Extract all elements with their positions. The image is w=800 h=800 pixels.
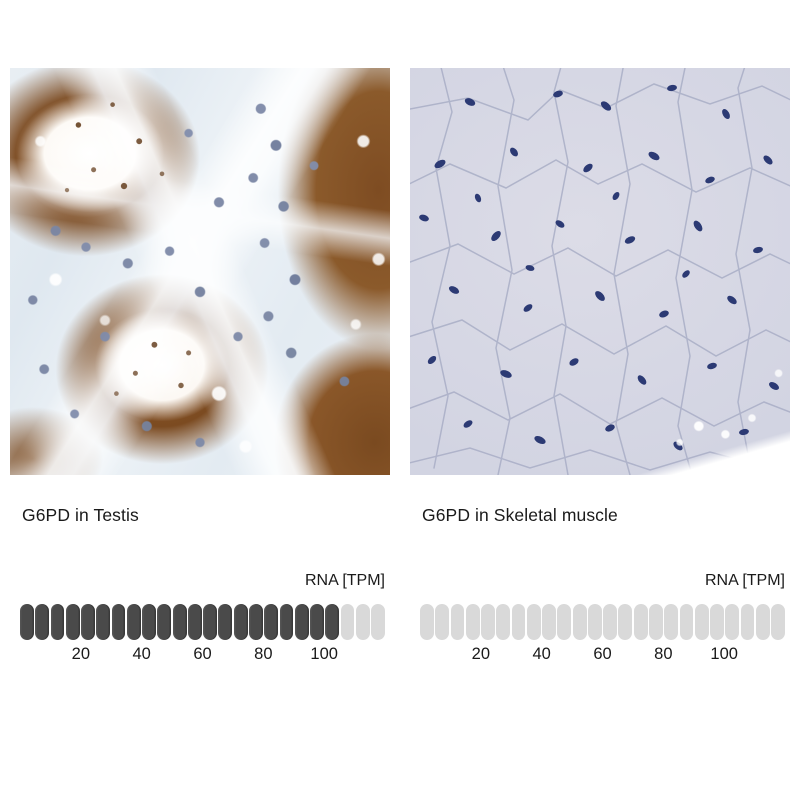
panel-testis: G6PD in Testis RNA [TPM] 20406080100: [0, 0, 400, 800]
rna-gauge-segment: [527, 604, 541, 640]
rna-gauge-skeletal-muscle[interactable]: [420, 604, 785, 640]
panel-skeletal-muscle: G6PD in Skeletal muscle RNA [TPM] 204060…: [400, 0, 800, 800]
caption-skeletal-muscle: G6PD in Skeletal muscle: [422, 505, 618, 526]
rna-gauge-segment: [588, 604, 602, 640]
rna-gauge-segment: [771, 604, 785, 640]
rna-gauge-segment: [649, 604, 663, 640]
rna-gauge-segment: [664, 604, 678, 640]
rna-gauge-tick-label: 20: [472, 645, 490, 664]
rna-gauge-segment: [618, 604, 632, 640]
rna-gauge-segment: [280, 604, 294, 640]
rna-gauge-segment: [249, 604, 263, 640]
hpa-tissue-comparison-figure: G6PD in Testis RNA [TPM] 20406080100: [0, 0, 800, 800]
rna-gauge-segment: [710, 604, 724, 640]
rna-gauge-tick-label: 60: [193, 645, 211, 664]
rna-gauge-segment: [234, 604, 248, 640]
rna-gauge-tick-label: 40: [132, 645, 150, 664]
rna-gauge-segment: [603, 604, 617, 640]
rna-gauge-segment: [203, 604, 217, 640]
rna-gauge-segment: [756, 604, 770, 640]
rna-gauge-ticks-skeletal-muscle: 20406080100: [420, 645, 785, 669]
rna-gauge-segment: [634, 604, 648, 640]
rna-gauge-tick-label: 20: [72, 645, 90, 664]
micrograph-nuclei-layer: [10, 68, 390, 475]
rna-gauge-tick-label: 100: [710, 645, 738, 664]
micrograph-testis[interactable]: [10, 68, 390, 475]
rna-gauge-segment: [81, 604, 95, 640]
rna-gauge-segment: [188, 604, 202, 640]
rna-gauge-segment: [557, 604, 571, 640]
rna-gauge-segment: [341, 604, 355, 640]
rna-gauge-segment: [573, 604, 587, 640]
micrograph-skeletal-muscle[interactable]: [410, 68, 790, 475]
rna-gauge-tick-label: 60: [593, 645, 611, 664]
micrograph-tissue-edge-layer: [410, 68, 790, 475]
rna-gauge-testis[interactable]: [20, 604, 385, 640]
rna-gauge-tick-label: 80: [254, 645, 272, 664]
rna-gauge-segment: [218, 604, 232, 640]
rna-gauge-segment: [142, 604, 156, 640]
rna-gauge-segment: [725, 604, 739, 640]
rna-gauge-segment: [20, 604, 34, 640]
rna-gauge-segment: [420, 604, 434, 640]
rna-gauge-segment: [35, 604, 49, 640]
caption-testis: G6PD in Testis: [22, 505, 139, 526]
rna-gauge-segment: [310, 604, 324, 640]
rna-gauge-segment: [496, 604, 510, 640]
rna-gauge-segment: [96, 604, 110, 640]
rna-gauge-segment: [695, 604, 709, 640]
rna-gauge-segment: [157, 604, 171, 640]
rna-tpm-label-testis: RNA [TPM]: [305, 572, 385, 590]
rna-gauge-segment: [325, 604, 339, 640]
rna-gauge-segment: [680, 604, 694, 640]
rna-gauge-segment: [112, 604, 126, 640]
rna-gauge-ticks-testis: 20406080100: [20, 645, 385, 669]
rna-tpm-label-skeletal-muscle: RNA [TPM]: [705, 572, 785, 590]
rna-gauge-segment: [66, 604, 80, 640]
rna-gauge-segment: [51, 604, 65, 640]
rna-gauge-segment: [741, 604, 755, 640]
rna-gauge-segment: [542, 604, 556, 640]
rna-gauge-segment: [451, 604, 465, 640]
rna-gauge-segment: [435, 604, 449, 640]
rna-gauge-segment: [173, 604, 187, 640]
rna-gauge-segment: [295, 604, 309, 640]
rna-gauge-segment: [512, 604, 526, 640]
rna-gauge-segment: [127, 604, 141, 640]
rna-gauge-segment: [264, 604, 278, 640]
rna-gauge-tick-label: 80: [654, 645, 672, 664]
rna-gauge-segment: [356, 604, 370, 640]
rna-gauge-segment: [466, 604, 480, 640]
rna-gauge-segment: [371, 604, 385, 640]
rna-gauge-segment: [481, 604, 495, 640]
rna-gauge-tick-label: 100: [310, 645, 338, 664]
rna-gauge-tick-label: 40: [532, 645, 550, 664]
